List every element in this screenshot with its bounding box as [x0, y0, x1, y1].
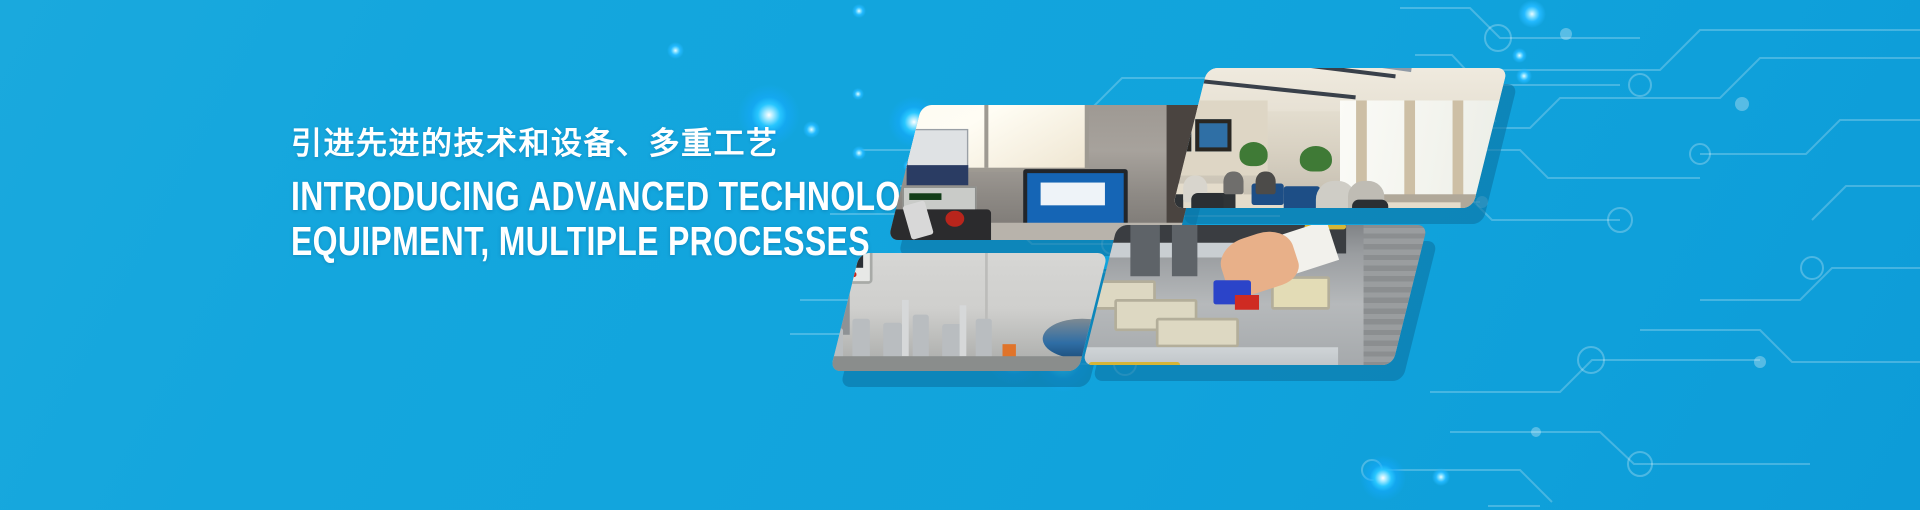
photo-laser-marking-workstation: [888, 105, 1212, 240]
photo-collage: [0, 0, 1920, 510]
engineering-office-image: [1173, 68, 1508, 208]
automated-assembly-line-image: [830, 253, 1107, 371]
photo-pick-and-place-operation: [1083, 225, 1428, 365]
promo-banner: 引进先进的技术和设备、多重工艺 INTRODUCING ADVANCED TEC…: [0, 0, 1920, 510]
laser-marking-workstation-image: [888, 105, 1212, 240]
photo-engineering-office: [1173, 68, 1508, 208]
photo-automated-assembly-line: [830, 253, 1107, 371]
pick-and-place-operation-image: [1083, 225, 1428, 365]
